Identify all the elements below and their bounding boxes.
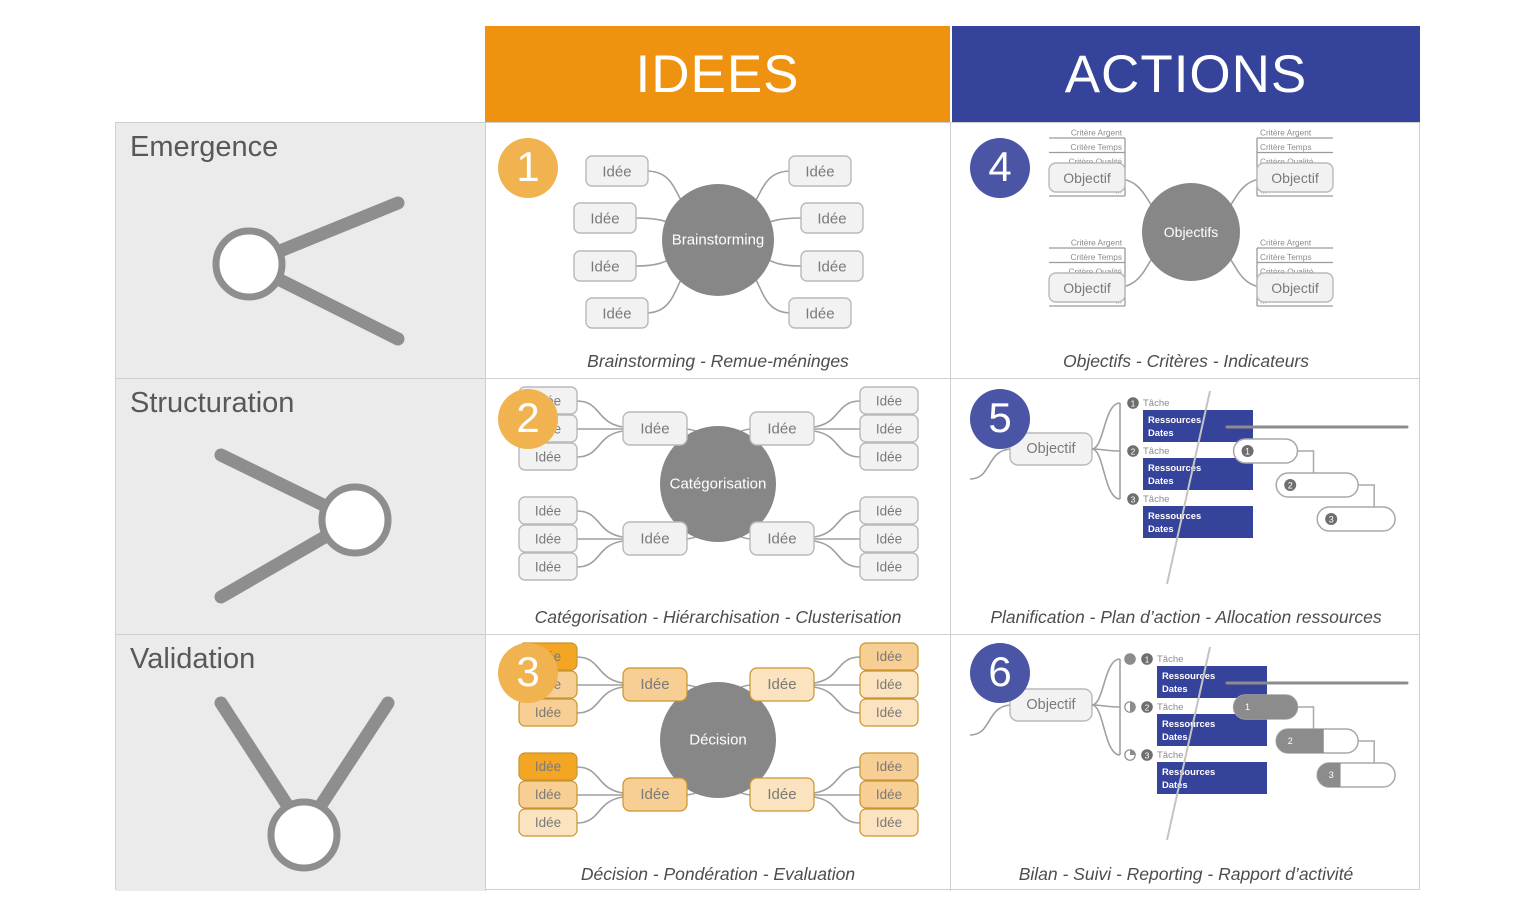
svg-text:Idée: Idée bbox=[640, 421, 669, 438]
svg-text:Idée: Idée bbox=[602, 164, 631, 181]
caption-5: Planification - Plan d’action - Allocati… bbox=[952, 607, 1420, 628]
svg-text:Idée: Idée bbox=[535, 504, 561, 519]
converge-node-icon bbox=[116, 407, 486, 633]
badge-2: 2 bbox=[498, 389, 558, 449]
idea-leaf: Idée bbox=[519, 497, 577, 524]
header-actions: ACTIONS bbox=[952, 26, 1420, 122]
badge-5: 5 bbox=[970, 389, 1030, 449]
svg-text:Objectif: Objectif bbox=[1026, 697, 1076, 713]
criterion-label: Critère Temps bbox=[1071, 252, 1123, 262]
caption-3: Décision - Pondération - Evaluation bbox=[486, 864, 950, 885]
idea-branch: Idée bbox=[750, 522, 814, 555]
svg-text:3: 3 bbox=[1131, 494, 1136, 504]
gantt-bar-number: 1 bbox=[1245, 702, 1250, 712]
caption-6: Bilan - Suivi - Reporting - Rapport d’ac… bbox=[952, 864, 1420, 885]
svg-text:Ressources: Ressources bbox=[1162, 718, 1215, 729]
criterion-label: Critère Argent bbox=[1071, 238, 1123, 248]
gantt-bar-number: 3 bbox=[1329, 514, 1334, 524]
svg-text:Idée: Idée bbox=[590, 211, 619, 228]
svg-text:Ressources: Ressources bbox=[1148, 414, 1201, 425]
svg-text:Idée: Idée bbox=[876, 560, 902, 575]
badge-1: 1 bbox=[498, 138, 558, 198]
idea-leaf: Idée bbox=[860, 553, 918, 580]
idea-node: Idée bbox=[586, 298, 648, 328]
criterion-label: Critère Temps bbox=[1260, 252, 1312, 262]
criterion-label: Critère Argent bbox=[1260, 128, 1312, 138]
idea-leaf: Idée bbox=[860, 387, 918, 414]
svg-text:Idée: Idée bbox=[640, 786, 669, 803]
svg-text:2: 2 bbox=[1145, 702, 1150, 712]
svg-text:Idée: Idée bbox=[535, 450, 561, 465]
gantt-bar-number: 1 bbox=[1245, 446, 1250, 456]
svg-text:Idée: Idée bbox=[640, 676, 669, 693]
svg-text:Idée: Idée bbox=[805, 306, 834, 323]
svg-text:Idée: Idée bbox=[535, 705, 561, 720]
svg-text:Objectif: Objectif bbox=[1063, 280, 1111, 296]
svg-text:Dates: Dates bbox=[1162, 779, 1188, 790]
svg-text:Idée: Idée bbox=[876, 815, 902, 830]
idea-node: Idée bbox=[586, 156, 648, 186]
stage-emergence: Emergence bbox=[116, 123, 486, 378]
svg-text:Dates: Dates bbox=[1162, 683, 1188, 694]
idea-leaf: Idée bbox=[519, 553, 577, 580]
svg-text:Idée: Idée bbox=[876, 532, 902, 547]
svg-text:Idée: Idée bbox=[602, 306, 631, 323]
svg-text:Objectif: Objectif bbox=[1063, 170, 1111, 186]
svg-text:Idée: Idée bbox=[876, 705, 902, 720]
hub-label-4: Objectifs bbox=[1164, 224, 1218, 240]
header-ideas-label: IDEES bbox=[635, 44, 799, 105]
gantt-bar-number: 2 bbox=[1288, 736, 1293, 746]
svg-text:Objectif: Objectif bbox=[1026, 441, 1076, 457]
svg-text:1: 1 bbox=[1145, 654, 1150, 664]
caption-4: Objectifs - Critères - Indicateurs bbox=[952, 351, 1420, 372]
cell-brainstorming: 1 Brainstorming bbox=[486, 123, 951, 378]
idea-node: Idée bbox=[789, 156, 851, 186]
header-actions-label: ACTIONS bbox=[1065, 44, 1308, 105]
svg-text:Idée: Idée bbox=[640, 531, 669, 548]
infographic-page: IDEES ACTIONS Emergence 1 bbox=[0, 0, 1536, 922]
cell-decision: 3 bbox=[486, 635, 951, 891]
hub-label-3: Décision bbox=[689, 732, 747, 749]
gantt-bar-number: 3 bbox=[1329, 770, 1334, 780]
task-label: Tâche bbox=[1143, 398, 1169, 409]
svg-text:Idée: Idée bbox=[876, 649, 902, 664]
idea-node: Idée bbox=[574, 251, 636, 281]
idea-branch: Idée bbox=[623, 522, 687, 555]
idea-branch: Idée bbox=[750, 412, 814, 445]
task-label: Tâche bbox=[1143, 446, 1169, 457]
gantt-progress-fill bbox=[1234, 695, 1298, 719]
cell-objectifs: 4 Objectifs Critère ArgentCritère Tem bbox=[952, 123, 1420, 378]
svg-text:Idée: Idée bbox=[535, 815, 561, 830]
cell-planification: 5 Objectif 1TâcheRessourcesDates2TâcheRe… bbox=[952, 379, 1420, 634]
idea-leaf: Idée bbox=[860, 443, 918, 470]
svg-text:Objectif: Objectif bbox=[1271, 280, 1319, 296]
idea-leaf: Idée bbox=[860, 525, 918, 552]
svg-text:Idée: Idée bbox=[876, 450, 902, 465]
svg-text:Objectif: Objectif bbox=[1271, 170, 1319, 186]
idea-leaf: Idée bbox=[860, 497, 918, 524]
svg-text:Idée: Idée bbox=[535, 759, 561, 774]
idea-branch: Idée bbox=[623, 412, 687, 445]
v-shape-node-icon bbox=[116, 663, 486, 889]
diverge-node-icon bbox=[116, 151, 486, 377]
svg-text:Idée: Idée bbox=[817, 211, 846, 228]
idea-leaf: Idée bbox=[860, 415, 918, 442]
caption-2: Catégorisation - Hiérarchisation - Clust… bbox=[486, 607, 950, 628]
svg-text:Dates: Dates bbox=[1148, 427, 1174, 438]
criterion-label: Critère Temps bbox=[1260, 142, 1312, 152]
gantt-bar-number: 2 bbox=[1288, 480, 1293, 490]
caption-1: Brainstorming - Remue-méninges bbox=[486, 351, 950, 372]
row-emergence: Emergence 1 bbox=[116, 123, 1419, 379]
matrix-grid: Emergence 1 bbox=[115, 122, 1420, 890]
row-structuration: Structuration 2 bbox=[116, 379, 1419, 635]
svg-text:Dates: Dates bbox=[1148, 475, 1174, 486]
gantt-progress-fill bbox=[1276, 729, 1324, 753]
svg-text:1: 1 bbox=[1131, 398, 1136, 408]
task-label: Tâche bbox=[1143, 494, 1169, 505]
criterion-label: Critère Temps bbox=[1071, 142, 1123, 152]
row-validation: Validation 3 bbox=[116, 635, 1419, 891]
hub-label-2: Catégorisation bbox=[670, 476, 767, 493]
objectif-node-group: Critère ArgentCritère TempsCritère Quali… bbox=[1049, 238, 1125, 307]
idea-leaf: Idée bbox=[519, 525, 577, 552]
svg-text:Idée: Idée bbox=[590, 259, 619, 276]
svg-text:Dates: Dates bbox=[1148, 523, 1174, 534]
task-label: Tâche bbox=[1157, 702, 1183, 713]
idea-node: Idée bbox=[789, 298, 851, 328]
svg-text:Ressources: Ressources bbox=[1162, 766, 1215, 777]
svg-text:Idée: Idée bbox=[876, 394, 902, 409]
idea-node: Idée bbox=[801, 203, 863, 233]
criterion-label: Critère Argent bbox=[1071, 128, 1123, 138]
svg-text:Idée: Idée bbox=[767, 786, 796, 803]
task-label: Tâche bbox=[1157, 750, 1183, 761]
task-label: Tâche bbox=[1157, 654, 1183, 665]
badge-3: 3 bbox=[498, 643, 558, 703]
svg-text:2: 2 bbox=[1131, 446, 1136, 456]
criterion-label: Critère Argent bbox=[1260, 238, 1312, 248]
header-ideas: IDEES bbox=[485, 26, 950, 122]
svg-text:Idée: Idée bbox=[767, 676, 796, 693]
idea-node: Idée bbox=[574, 203, 636, 233]
idea-node: Idée bbox=[801, 251, 863, 281]
svg-text:Idée: Idée bbox=[535, 787, 561, 802]
objectif-node-group: Critère ArgentCritère TempsCritère Quali… bbox=[1049, 128, 1125, 197]
svg-text:Idée: Idée bbox=[535, 560, 561, 575]
svg-text:Idée: Idée bbox=[876, 422, 902, 437]
svg-text:Ressources: Ressources bbox=[1148, 510, 1201, 521]
stage-structuration: Structuration bbox=[116, 379, 486, 634]
svg-text:Idée: Idée bbox=[805, 164, 834, 181]
badge-6: 6 bbox=[970, 643, 1030, 703]
svg-text:Idée: Idée bbox=[767, 531, 796, 548]
cell-categorisation: 2 bbox=[486, 379, 951, 634]
cell-bilan: 6 Objectif 1TâcheRessourcesDates2TâcheRe… bbox=[952, 635, 1420, 891]
svg-text:Idée: Idée bbox=[876, 759, 902, 774]
svg-text:Idée: Idée bbox=[876, 787, 902, 802]
objectif-root: Objectif bbox=[1010, 689, 1092, 721]
svg-text:Dates: Dates bbox=[1162, 731, 1188, 742]
objectif-node-group: Critère ArgentCritère TempsCritère Quali… bbox=[1257, 128, 1333, 197]
objectif-node-group: Critère ArgentCritère TempsCritère Quali… bbox=[1257, 238, 1333, 307]
svg-text:Idée: Idée bbox=[767, 421, 796, 438]
svg-text:Idée: Idée bbox=[817, 259, 846, 276]
stage-validation: Validation bbox=[116, 635, 486, 891]
svg-text:Idée: Idée bbox=[876, 677, 902, 692]
svg-text:Idée: Idée bbox=[535, 532, 561, 547]
hub-label-1: Brainstorming bbox=[672, 232, 765, 249]
badge-4: 4 bbox=[970, 138, 1030, 198]
svg-text:Ressources: Ressources bbox=[1162, 670, 1215, 681]
svg-text:3: 3 bbox=[1145, 750, 1150, 760]
svg-text:Idée: Idée bbox=[876, 504, 902, 519]
